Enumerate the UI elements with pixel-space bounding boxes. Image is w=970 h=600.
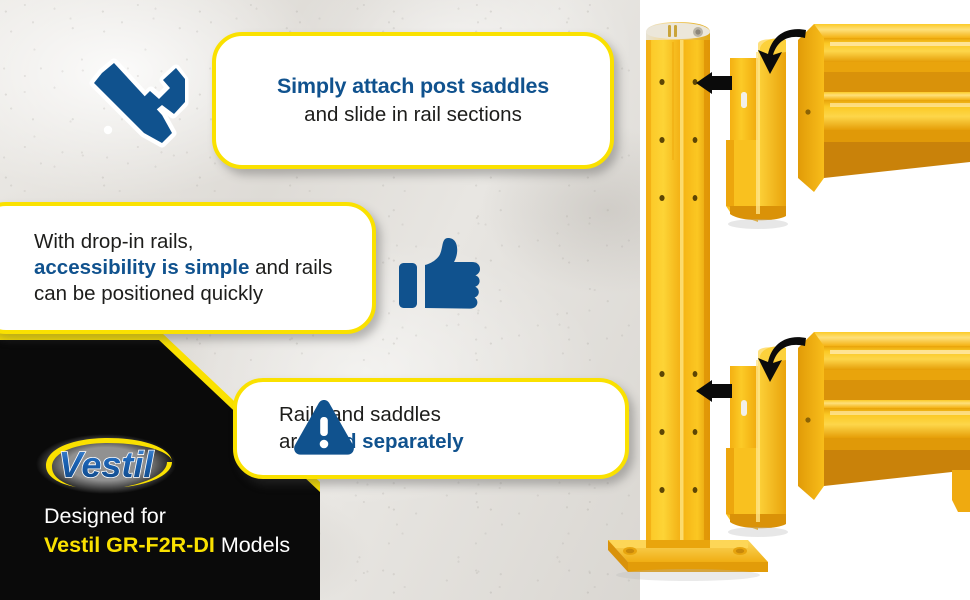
infographic-canvas: Simply attach post saddles and slide in …: [0, 0, 970, 600]
callout-attach-saddles[interactable]: Simply attach post saddles and slide in …: [212, 32, 614, 169]
rail-upper: [798, 24, 970, 192]
footer-caption: Designed for Vestil GR-F2R-DI Models: [44, 502, 344, 559]
callout-2-line-2-rest: and rails: [249, 256, 332, 279]
saddle-upper: [726, 38, 786, 222]
callout-accessibility[interactable]: With drop-in rails, accessibility is sim…: [0, 202, 376, 334]
callout-2-line-3: can be positioned quickly: [34, 281, 333, 307]
vestil-logo: Vestil: [34, 432, 178, 496]
footer-line-designed-for: Designed for: [44, 502, 344, 531]
vestil-logo-wordmark: Vestil: [59, 444, 155, 485]
callout-1-line-bold: Simply attach post saddles: [277, 73, 549, 101]
callout-2-text: With drop-in rails, accessibility is sim…: [34, 229, 333, 308]
footer-models-word: Models: [215, 533, 290, 557]
thumbs-up-icon: [398, 236, 482, 312]
callout-2-highlight: accessibility is simple: [34, 256, 249, 279]
callout-2-line-1: With drop-in rails,: [34, 229, 333, 255]
footer-model-name: Vestil GR-F2R-DI: [44, 533, 215, 557]
footer-line-model: Vestil GR-F2R-DI Models: [44, 531, 344, 560]
callout-1-line-regular: and slide in rail sections: [277, 102, 549, 128]
saddle-lower: [726, 346, 786, 530]
callout-1-text: Simply attach post saddles and slide in …: [277, 73, 549, 129]
post: [646, 22, 710, 572]
tools-icon: [88, 55, 190, 152]
rail-lower: [798, 332, 970, 512]
base-plate: [608, 540, 768, 572]
warning-triangle-icon: [293, 398, 355, 456]
callout-2-line-2: accessibility is simple and rails: [34, 255, 333, 281]
product-photo: [600, 0, 970, 600]
